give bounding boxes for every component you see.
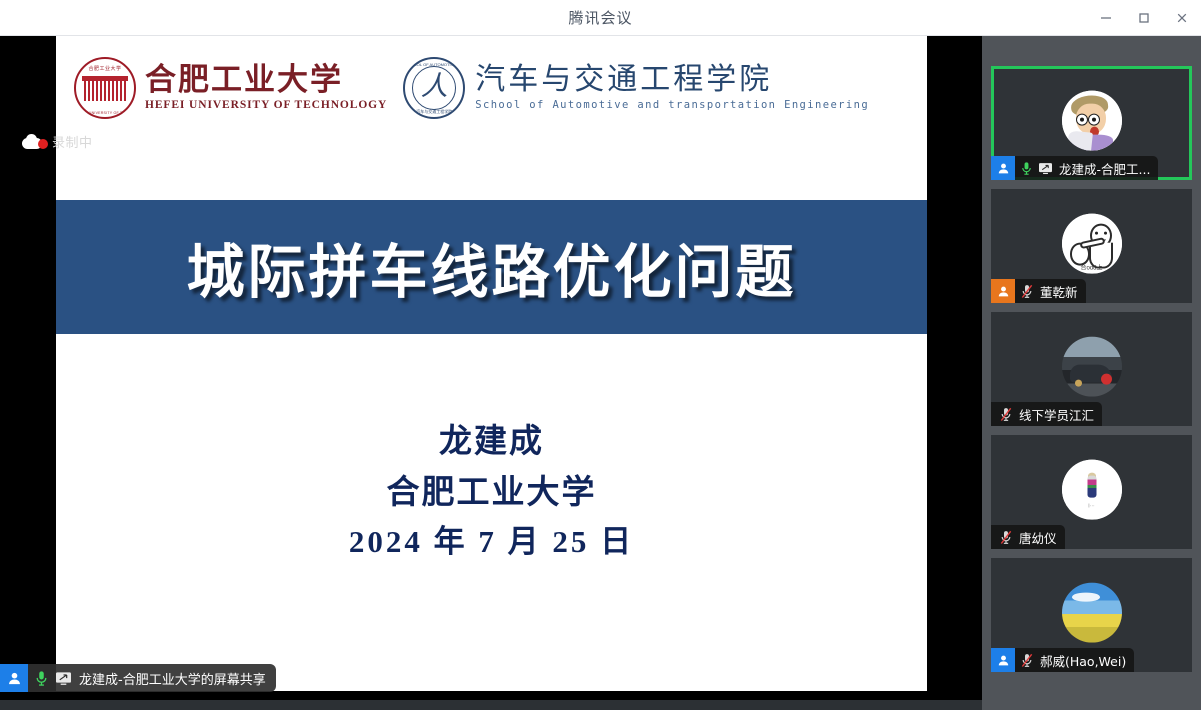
participant-name: 唐幼仪 (1019, 528, 1057, 547)
participant-rail[interactable]: 龙建成-合肥工... 合odd上 (982, 36, 1201, 710)
microphone-muted-icon (999, 530, 1013, 545)
participant-tile[interactable]: 郝威(Hao,Wei) (991, 558, 1192, 672)
hfut-seal-icon: 合肥工业大学 HEFEI UNIVERSITY OF TECHNOLOGY (74, 57, 136, 119)
screen-share-icon (1038, 162, 1053, 175)
window-title: 腾讯会议 (568, 7, 632, 28)
screen-share-icon (55, 671, 72, 686)
tencent-meeting-window: 腾讯会议 录制中 (0, 0, 1201, 710)
avatar: I··· (1062, 460, 1122, 520)
slide-author-block: 龙建成 合肥工业大学 2024 年 7 月 25 日 (56, 416, 927, 566)
participant-tile[interactable]: I··· 唐幼仪 (991, 435, 1192, 549)
presentation-slide: 合肥工业大学 HEFEI UNIVERSITY OF TECHNOLOGY 合肥… (56, 36, 927, 691)
presenter-status-bar: 龙建成-合肥工业大学的屏幕共享 (0, 664, 276, 692)
hfut-wordmark: 合肥工业大学 HEFEI UNIVERSITY OF TECHNOLOGY (145, 64, 387, 111)
slide-title-banner: 城际拼车线路优化问题 (56, 200, 927, 334)
participant-status-strip: 唐幼仪 (991, 525, 1065, 549)
hfut-name-en: HEFEI UNIVERSITY OF TECHNOLOGY (145, 99, 387, 111)
participant-status-strip: 董乾新 (991, 279, 1086, 303)
avatar (1062, 583, 1122, 643)
participant-status-strip: 郝威(Hao,Wei) (991, 648, 1134, 672)
microphone-muted-icon (999, 407, 1013, 422)
participant-name: 郝威(Hao,Wei) (1040, 651, 1126, 670)
avatar (1062, 337, 1122, 397)
school-seal-bottom-text: 汽车与交通工程学院 (405, 109, 463, 115)
cohost-badge-icon (991, 279, 1015, 303)
slide-date: 2024 年 7 月 25 日 (56, 517, 927, 567)
microphone-on-icon (34, 670, 49, 687)
slide-title: 城际拼车线路优化问题 (186, 225, 796, 309)
recording-label: 录制中 (52, 132, 93, 151)
slide-author-name: 龙建成 (56, 416, 927, 466)
shared-screen-stage[interactable]: 录制中 合肥工业大学 HEFEI UNIVERSITY OF TECHNOLOG… (0, 36, 982, 700)
recording-indicator: 录制中 (22, 128, 93, 154)
school-seal-icon: SCHOOL OF AUTOMOTIVE AND TRANSPORTATION … (403, 57, 465, 119)
participant-tile[interactable]: 合odd上 (991, 189, 1192, 303)
participant-tile[interactable]: 线下学员江汇 (991, 312, 1192, 426)
participant-status-strip: 龙建成-合肥工... (991, 156, 1158, 180)
microphone-muted-icon (1020, 653, 1034, 668)
titlebar: 腾讯会议 (0, 0, 1201, 36)
host-badge-icon (991, 156, 1015, 180)
microphone-on-icon (1020, 161, 1033, 176)
host-badge-icon (991, 648, 1015, 672)
maximize-button[interactable] (1125, 0, 1163, 36)
school-name-en: School of Automotive and transportation … (475, 99, 869, 111)
school-monogram: 人 (405, 73, 463, 100)
school-logo: SCHOOL OF AUTOMOTIVE AND TRANSPORTATION … (403, 57, 869, 119)
participant-name: 龙建成-合肥工... (1059, 159, 1150, 178)
close-button[interactable] (1163, 0, 1201, 36)
window-controls (1087, 0, 1201, 36)
minimize-button[interactable] (1087, 0, 1125, 36)
participant-name: 线下学员江汇 (1019, 405, 1094, 424)
cloud-record-icon (22, 134, 48, 149)
slide-header: 合肥工业大学 HEFEI UNIVERSITY OF TECHNOLOGY 合肥… (56, 36, 927, 139)
school-name-cn: 汽车与交通工程学院 (475, 64, 869, 96)
hfut-seal-bottom-text: HEFEI UNIVERSITY OF TECHNOLOGY (76, 111, 134, 115)
hfut-name-cn: 合肥工业大学 (145, 64, 387, 97)
hfut-seal-top-text: 合肥工业大学 (76, 65, 134, 72)
microphone-muted-icon (1020, 284, 1034, 299)
participant-name: 董乾新 (1040, 282, 1078, 301)
participant-tile[interactable]: 龙建成-合肥工... (991, 66, 1192, 180)
avatar (1062, 91, 1122, 151)
slide-author-organization: 合肥工业大学 (56, 466, 927, 517)
presenter-name: 龙建成-合肥工业大学的屏幕共享 (79, 669, 266, 688)
participant-status-strip: 线下学员江汇 (991, 402, 1102, 426)
hfut-logo: 合肥工业大学 HEFEI UNIVERSITY OF TECHNOLOGY 合肥… (74, 57, 387, 119)
avatar: 合odd上 (1062, 214, 1122, 274)
host-badge-icon (0, 664, 28, 692)
school-wordmark: 汽车与交通工程学院 School of Automotive and trans… (475, 64, 869, 111)
